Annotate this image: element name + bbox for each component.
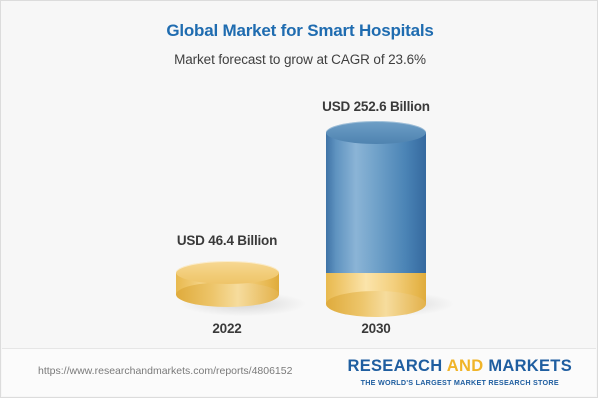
brand-word-markets: MARKETS (488, 357, 572, 375)
bar-top-ellipse-2022 (176, 261, 279, 284)
brand-logo-wordmark: RESEARCH AND MARKETS (347, 358, 572, 375)
brand-word-research: RESEARCH (347, 357, 442, 375)
bar-cylinder-2030[interactable] (326, 121, 426, 307)
bar-bottom-cap-2022 (176, 282, 279, 307)
brand-logo[interactable]: RESEARCH AND MARKETS THE WORLD'S LARGEST… (347, 358, 572, 387)
bar-value-label-2030: USD 252.6 Billion (276, 99, 476, 114)
bar-segment-2030-blue (326, 132, 426, 273)
bar-top-ellipse-2030 (326, 121, 426, 144)
source-url[interactable]: https://www.researchandmarkets.com/repor… (38, 365, 292, 377)
x-axis-label-2030: 2030 (306, 321, 446, 336)
bar-bottom-cap-2030 (326, 291, 426, 317)
bar-value-label-2022: USD 46.4 Billion (127, 233, 327, 248)
brand-tagline: THE WORLD'S LARGEST MARKET RESEARCH STOR… (347, 378, 572, 387)
footer: https://www.researchandmarkets.com/repor… (2, 348, 596, 396)
x-axis-label-2022: 2022 (157, 321, 297, 336)
brand-word-and-text: AND (447, 357, 484, 375)
chart-plot-area: USD 252.6 Billion USD 46.4 Billion 2022 … (1, 1, 598, 349)
bar-cylinder-2022[interactable] (176, 261, 279, 307)
infographic-card: Global Market for Smart Hospitals Market… (0, 0, 598, 398)
